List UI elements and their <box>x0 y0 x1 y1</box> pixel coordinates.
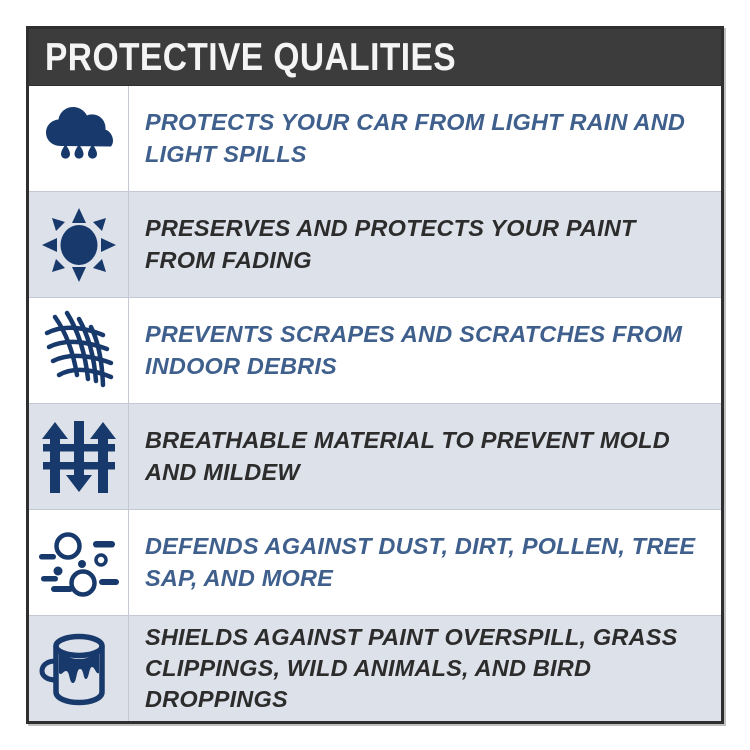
dust-particles-icon <box>37 526 121 600</box>
list-item-label: BREATHABLE MATERIAL TO PREVENT MOLD AND … <box>145 425 707 488</box>
paint-can-icon <box>39 629 119 709</box>
sun-icon <box>41 207 117 283</box>
list-item: PROTECTS YOUR CAR FROM LIGHT RAIN AND LI… <box>29 86 721 191</box>
icon-cell <box>29 404 129 509</box>
list-item-label: SHIELDS AGAINST PAINT OVERSPILL, GRASS C… <box>145 622 707 716</box>
breathable-airflow-icon <box>41 417 117 497</box>
protective-qualities-infographic: PROTECTIVE QUALITIES PRO <box>26 26 724 724</box>
qualities-list: PROTECTS YOUR CAR FROM LIGHT RAIN AND LI… <box>29 86 721 721</box>
text-cell: PRESERVES AND PROTECTS YOUR PAINT FROM F… <box>129 192 721 297</box>
list-item: PRESERVES AND PROTECTS YOUR PAINT FROM F… <box>29 191 721 297</box>
list-item: PREVENTS SCRAPES AND SCRATCHES FROM INDO… <box>29 297 721 403</box>
page-title: PROTECTIVE QUALITIES <box>45 38 456 77</box>
icon-cell <box>29 298 129 403</box>
scratch-mesh-icon <box>41 309 117 393</box>
text-cell: PROTECTS YOUR CAR FROM LIGHT RAIN AND LI… <box>129 86 721 191</box>
icon-cell <box>29 86 129 191</box>
text-cell: PREVENTS SCRAPES AND SCRATCHES FROM INDO… <box>129 298 721 403</box>
list-item-label: DEFENDS AGAINST DUST, DIRT, POLLEN, TREE… <box>145 531 707 594</box>
text-cell: BREATHABLE MATERIAL TO PREVENT MOLD AND … <box>129 404 721 509</box>
icon-cell <box>29 616 129 721</box>
list-item: BREATHABLE MATERIAL TO PREVENT MOLD AND … <box>29 403 721 509</box>
header-bar: PROTECTIVE QUALITIES <box>29 29 721 86</box>
list-item: SHIELDS AGAINST PAINT OVERSPILL, GRASS C… <box>29 615 721 721</box>
rain-cloud-icon <box>43 104 115 174</box>
icon-cell <box>29 510 129 615</box>
list-item-label: PREVENTS SCRAPES AND SCRATCHES FROM INDO… <box>145 319 707 382</box>
text-cell: DEFENDS AGAINST DUST, DIRT, POLLEN, TREE… <box>129 510 721 615</box>
list-item-label: PRESERVES AND PROTECTS YOUR PAINT FROM F… <box>145 213 707 276</box>
text-cell: SHIELDS AGAINST PAINT OVERSPILL, GRASS C… <box>129 616 721 721</box>
icon-cell <box>29 192 129 297</box>
list-item-label: PROTECTS YOUR CAR FROM LIGHT RAIN AND LI… <box>145 107 707 170</box>
list-item: DEFENDS AGAINST DUST, DIRT, POLLEN, TREE… <box>29 509 721 615</box>
